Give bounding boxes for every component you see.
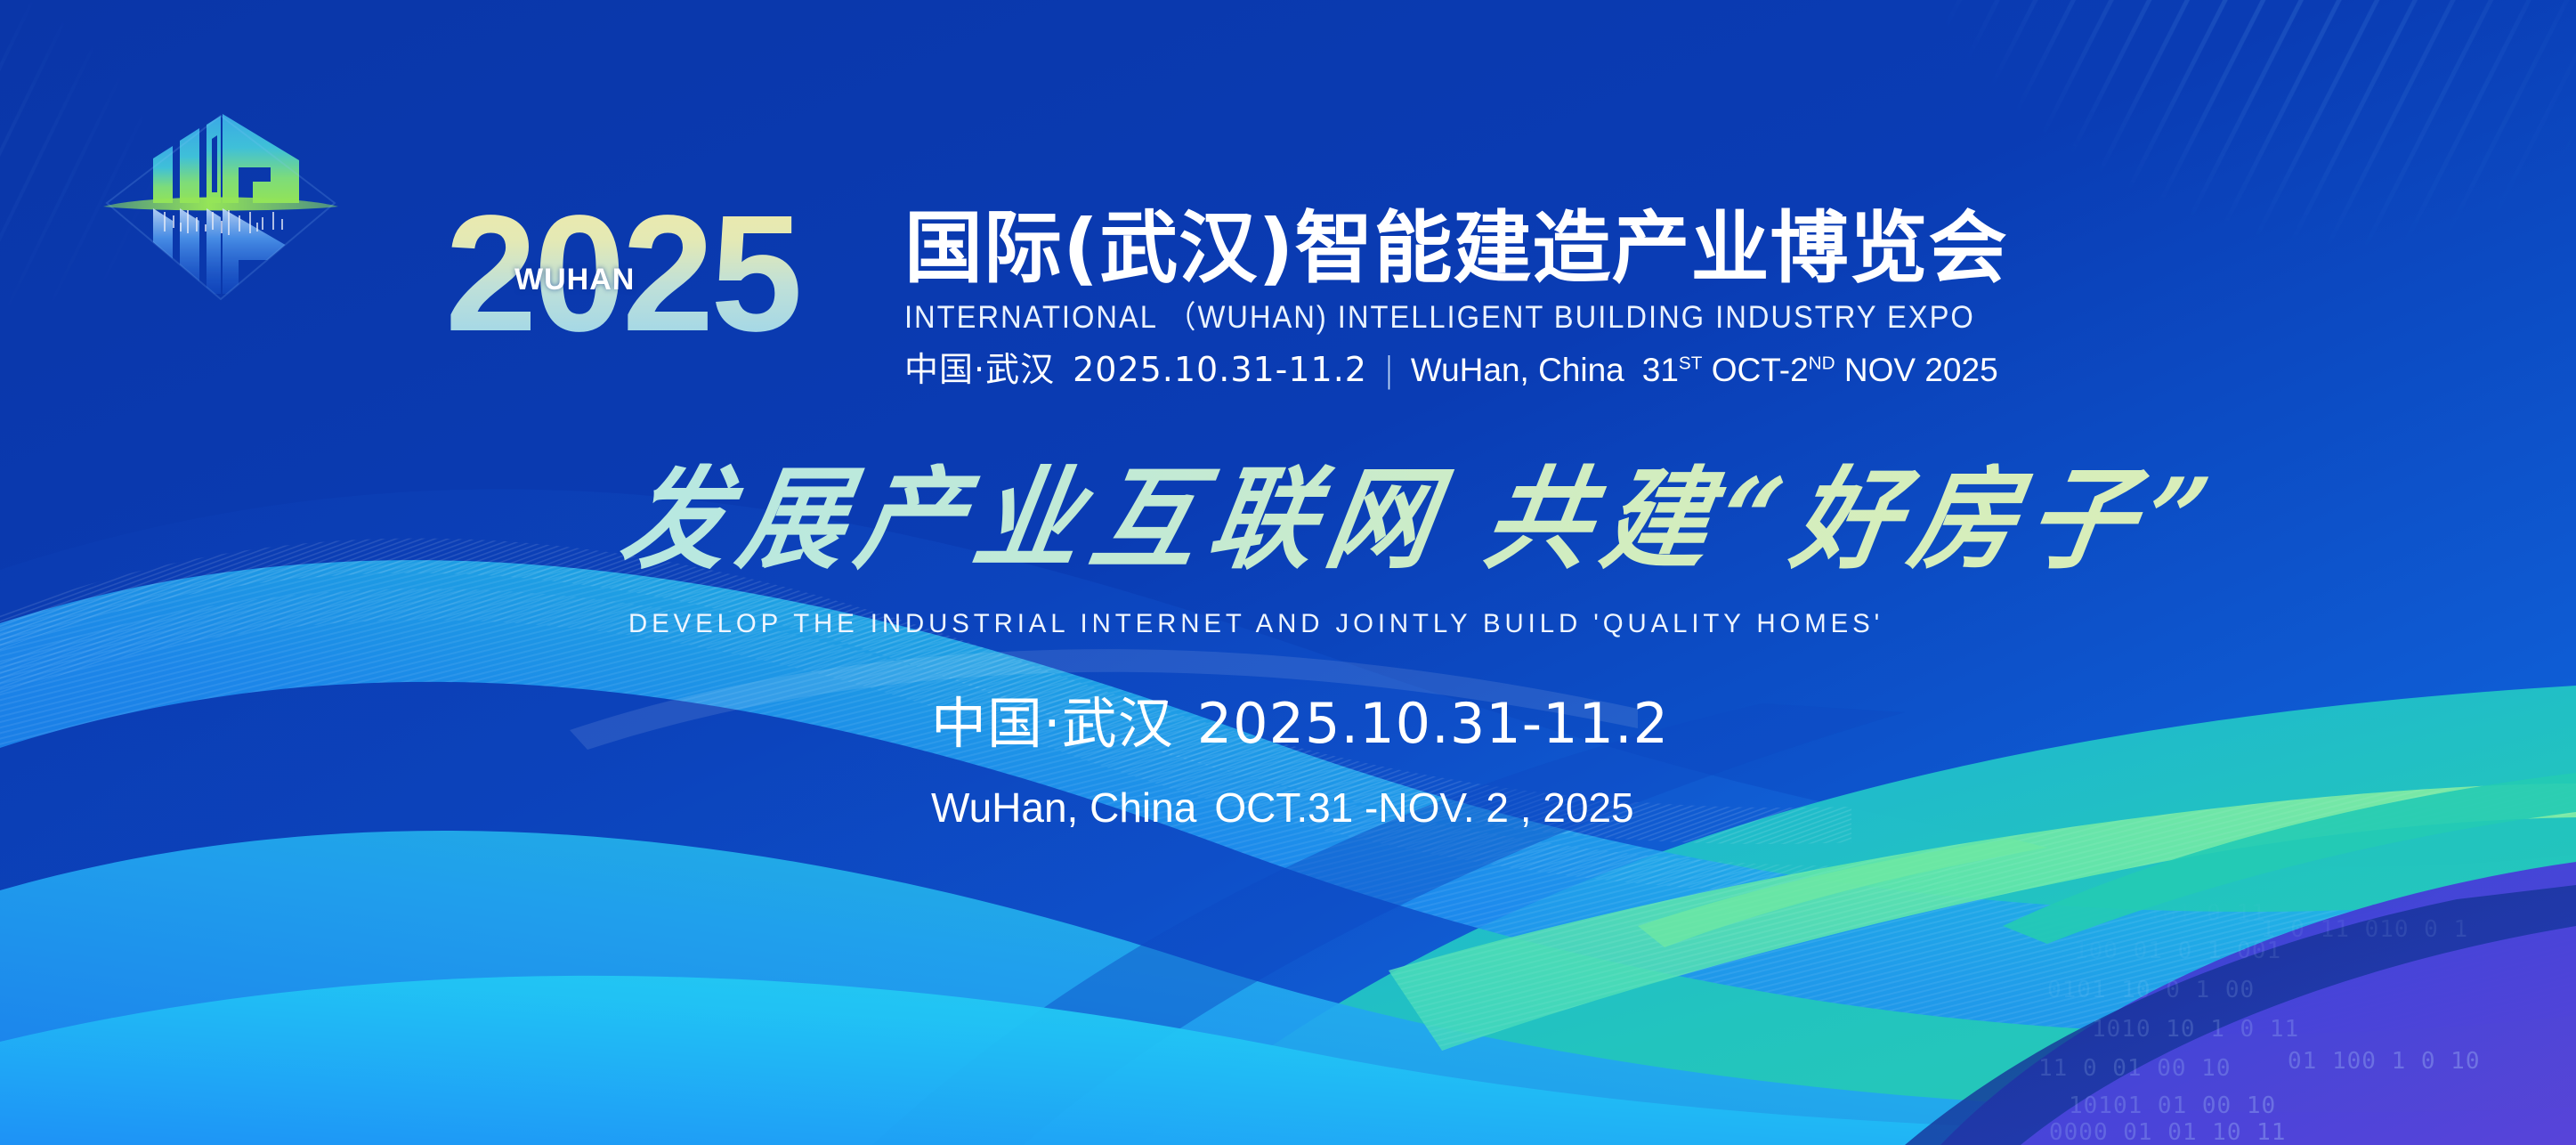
title-block: 国际(武汉)智能建造产业博览会 INTERNATIONAL （WUHAN) IN… [904, 207, 2049, 386]
header-en-date: 31ST OCT-2ND NOV 2025 [1642, 353, 1998, 386]
year-city-text: WUHAN [514, 263, 635, 297]
slogan-calligraphy: 发展产业互联网共建“好房子” [614, 463, 2229, 574]
ordinal-start: ST [1679, 353, 1702, 374]
header-en-location: WuHan, China [1411, 353, 1624, 386]
header-separator: | [1383, 353, 1395, 386]
ordinal-end: ND [1809, 353, 1835, 374]
header-date-line: 中国·武汉 2025.10.31-11.2 | WuHan, China 31S… [904, 353, 2049, 386]
day-start: 31 [1642, 352, 1679, 388]
slogan-cn-part1: 发展产业互联网 [612, 453, 1455, 584]
footer-en-date: OCT.31 -NOV. 2 , 2025 [1214, 784, 1633, 831]
slogan-cn-part2: 共建“好房子” [1476, 453, 2230, 584]
header-cn-date: 2025.10.31-11.2 [1073, 353, 1367, 386]
page-subtitle: INTERNATIONAL （WUHAN) INTELLIGENT BUILDI… [904, 302, 1975, 333]
page-title: 国际(武汉)智能建造产业博览会 [904, 207, 2049, 289]
footer-en-location: WuHan, China [931, 784, 1196, 831]
year-block: 2025 WUHAN [445, 203, 799, 345]
footer-cn-location: 中国·武汉 [931, 691, 1174, 756]
header-cn-location: 中国·武汉 [904, 353, 1055, 386]
footer-cn-line: 中国·武汉2025.10.31-11.2 [931, 696, 1669, 751]
banner-content: 2025 WUHAN 国际(武汉)智能建造产业博览会 INTERNATIONAL… [0, 0, 2576, 1145]
footer-en-line: WuHan, ChinaOCT.31 -NOV. 2 , 2025 [931, 787, 1634, 828]
month-start: OCT-2 [1712, 352, 1809, 388]
month-end: NOV 2025 [1844, 352, 1998, 388]
slogan-english: DEVELOP THE INDUSTRIAL INTERNET AND JOIN… [628, 611, 1883, 637]
footer-cn-date: 2025.10.31-11.2 [1197, 691, 1669, 756]
expo-banner: 0 1 00 101 0 11 100 01 0 1 001 0101 10 0… [0, 0, 2576, 1145]
